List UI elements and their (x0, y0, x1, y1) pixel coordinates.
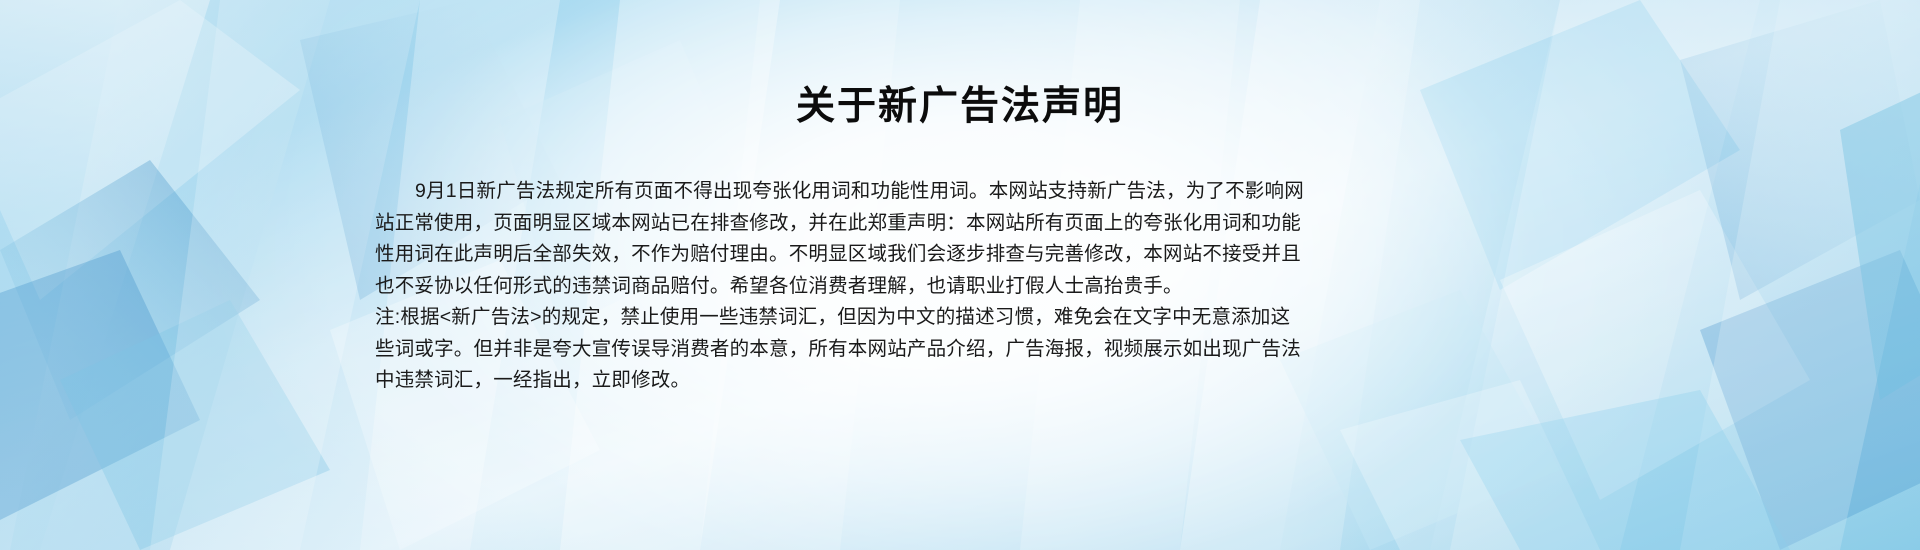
statement-line: 站正常使用，页面明显区域本网站已在排查修改，并在此郑重声明：本网站所有页面上的夸… (375, 208, 1175, 240)
note-line: 些词或字。但并非是夸大宣传误导消费者的本意，所有本网站产品介绍，广告海报，视频展… (375, 334, 1175, 366)
statement-content: 关于新广告法声明 9月1日新广告法规定所有页面不得出现夸张化用词和功能性用词。本… (0, 0, 1920, 550)
note-line: 中违禁词汇，一经指出，立即修改。 (375, 365, 1175, 397)
statement-line: 也不妥协以任何形式的违禁词商品赔付。希望各位消费者理解，也请职业打假人士高抬贵手… (375, 271, 1175, 303)
statement-line: 性用词在此声明后全部失效，不作为赔付理由。不明显区域我们会逐步排查与完善修改，本… (375, 239, 1175, 271)
advertising-law-statement-banner: 关于新广告法声明 9月1日新广告法规定所有页面不得出现夸张化用词和功能性用词。本… (0, 0, 1920, 550)
page-title: 关于新广告法声明 (0, 84, 1920, 130)
note-line: 注:根据<新广告法>的规定，禁止使用一些违禁词汇，但因为中文的描述习惯，难免会在… (375, 302, 1175, 334)
statement-body: 9月1日新广告法规定所有页面不得出现夸张化用词和功能性用词。本网站支持新广告法，… (375, 176, 1175, 397)
statement-line: 9月1日新广告法规定所有页面不得出现夸张化用词和功能性用词。本网站支持新广告法，… (375, 176, 1175, 208)
